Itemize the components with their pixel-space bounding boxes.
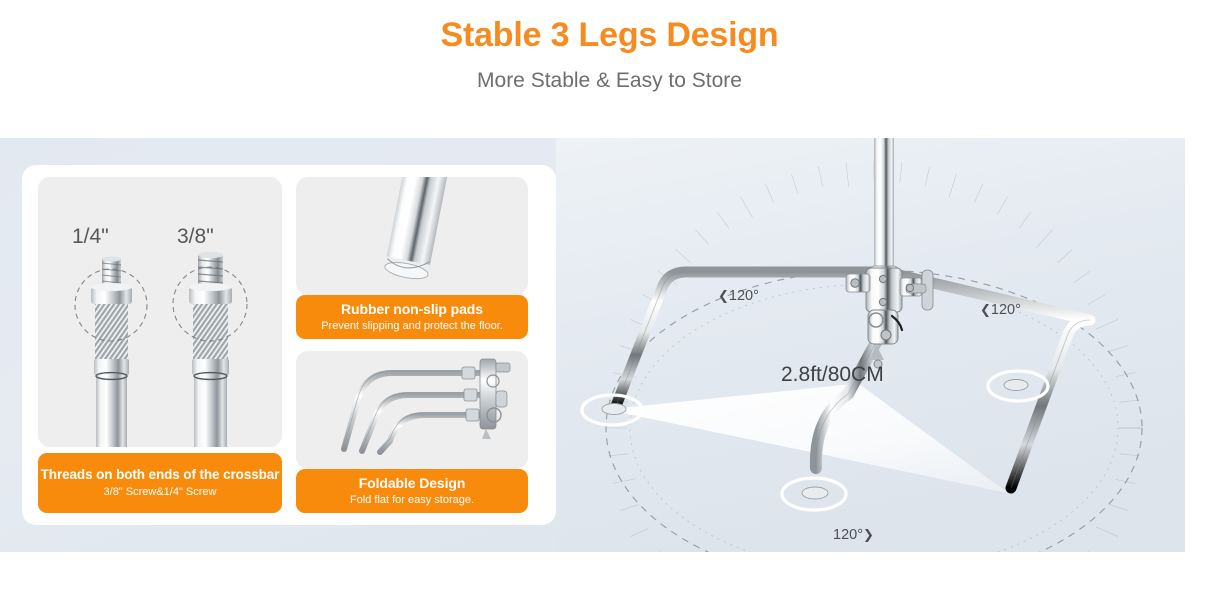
span-label: 2.8ft/80CM xyxy=(781,363,884,387)
tube-graphic xyxy=(383,177,454,284)
threads-photo: 1/4" 3/8" xyxy=(38,177,282,447)
caption-foldable-title: Foldable Design xyxy=(359,475,466,492)
caption-foldable: Foldable Design Fold flat for easy stora… xyxy=(296,469,528,513)
folded-hub-graphic xyxy=(480,359,510,439)
page-subtitle: More Stable & Easy to Store xyxy=(477,69,742,93)
caption-rubber-pads-subtitle: Prevent slipping and protect the floor. xyxy=(321,320,503,333)
page-title: Stable 3 Legs Design xyxy=(441,14,779,57)
product-scene: ❮120° ❮120° 120°❯ 2.8ft/80CM xyxy=(556,138,1186,552)
chevron-left-icon: ❮ xyxy=(718,288,729,303)
screw-quarter-graphic xyxy=(91,256,132,447)
caption-rubber-pads-title: Rubber non-slip pads xyxy=(341,301,483,318)
chevron-left-icon-2: ❮ xyxy=(980,302,991,317)
screw-threeeighth-graphic xyxy=(189,252,232,447)
infographic-page: Stable 3 Legs Design More Stable & Easy … xyxy=(0,0,1219,600)
thread-label-threeeighth: 3/8" xyxy=(177,225,214,249)
caption-threads-subtitle: 3/8" Screw&1/4" Screw xyxy=(104,486,217,499)
rubber-pad-photo xyxy=(296,177,528,295)
caption-foldable-subtitle: Fold flat for easy storage. xyxy=(350,494,474,507)
angle-label-bottom: 120°❯ xyxy=(833,527,874,543)
features-card: 1/4" 3/8" Threads on both ends of the cr… xyxy=(22,165,556,525)
caption-threads: Threads on both ends of the crossbar 3/8… xyxy=(38,453,282,513)
band-right-edge xyxy=(1185,138,1219,552)
chevron-right-icon: ❯ xyxy=(863,527,874,542)
header: Stable 3 Legs Design More Stable & Easy … xyxy=(0,0,1219,138)
caption-rubber-pads: Rubber non-slip pads Prevent slipping an… xyxy=(296,295,528,339)
thread-label-quarter: 1/4" xyxy=(72,225,109,249)
angle-label-left: ❮120° xyxy=(718,288,759,304)
angle-label-right: ❮120° xyxy=(980,302,1021,318)
caption-threads-title: Threads on both ends of the crossbar xyxy=(41,467,280,483)
foldable-legs-photo xyxy=(296,351,528,469)
